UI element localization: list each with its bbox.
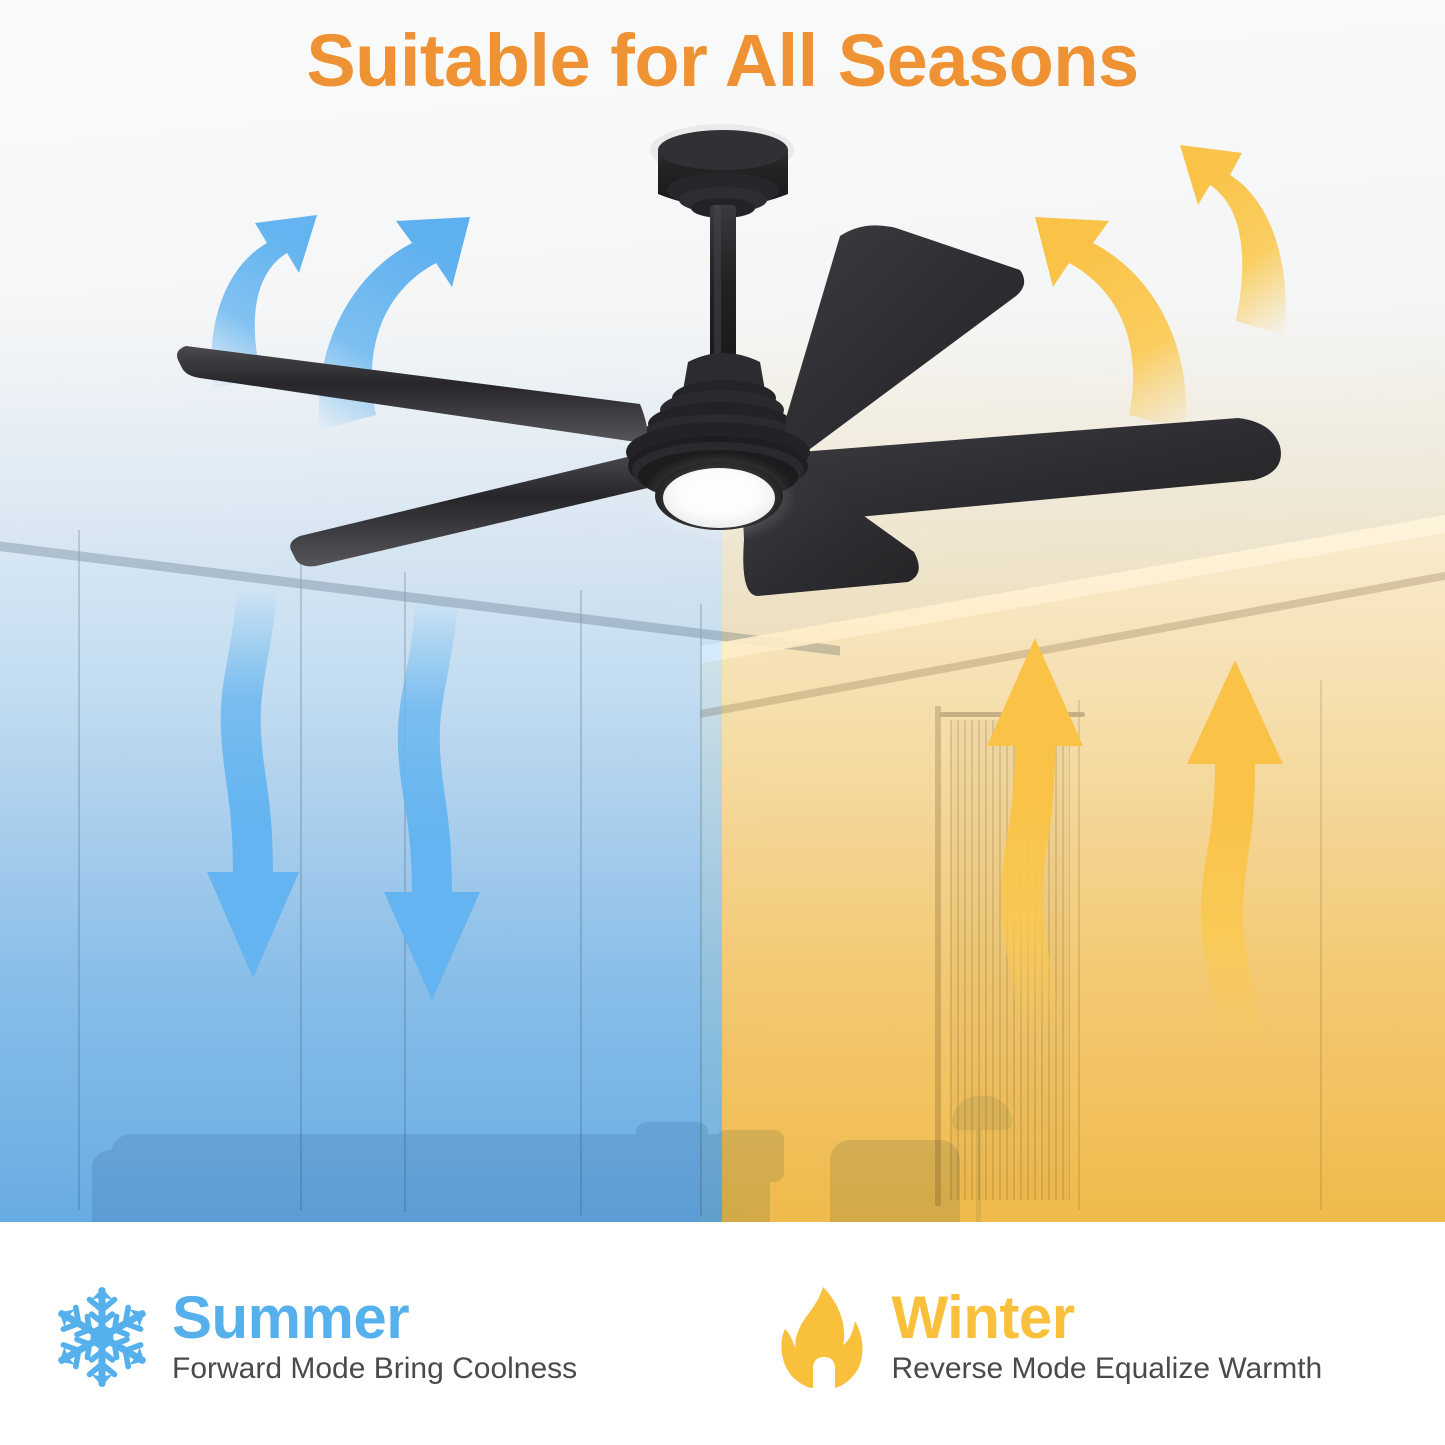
footer-item-winter: Winter Reverse Mode Equalize Warmth (726, 1222, 1445, 1445)
page-title: Suitable for All Seasons (0, 24, 1445, 98)
summer-heading: Summer (172, 1287, 577, 1348)
winter-text-block: Winter Reverse Mode Equalize Warmth (892, 1287, 1323, 1385)
product-scene (0, 0, 1445, 1222)
fan-led-light (641, 452, 797, 544)
summer-text-block: Summer Forward Mode Bring Coolness (172, 1287, 577, 1385)
fan-downrod (710, 205, 736, 365)
fan-blade (786, 225, 1024, 452)
winter-subheading: Reverse Mode Equalize Warmth (892, 1352, 1323, 1386)
ceiling-fan (0, 0, 1445, 1222)
fan-blade (290, 452, 663, 566)
fan-blade (177, 346, 647, 442)
fan-canopy (658, 130, 788, 218)
infographic-root: Suitable for All Seasons (0, 0, 1445, 1445)
winter-heading: Winter (892, 1287, 1323, 1348)
footer-legend: Summer Forward Mode Bring Coolness Winte… (0, 1222, 1445, 1445)
footer-item-summer: Summer Forward Mode Bring Coolness (0, 1222, 726, 1445)
summer-subheading: Forward Mode Bring Coolness (172, 1352, 577, 1386)
snowflake-icon (46, 1281, 158, 1393)
flame-icon (766, 1281, 878, 1393)
fan-blade (798, 418, 1280, 520)
